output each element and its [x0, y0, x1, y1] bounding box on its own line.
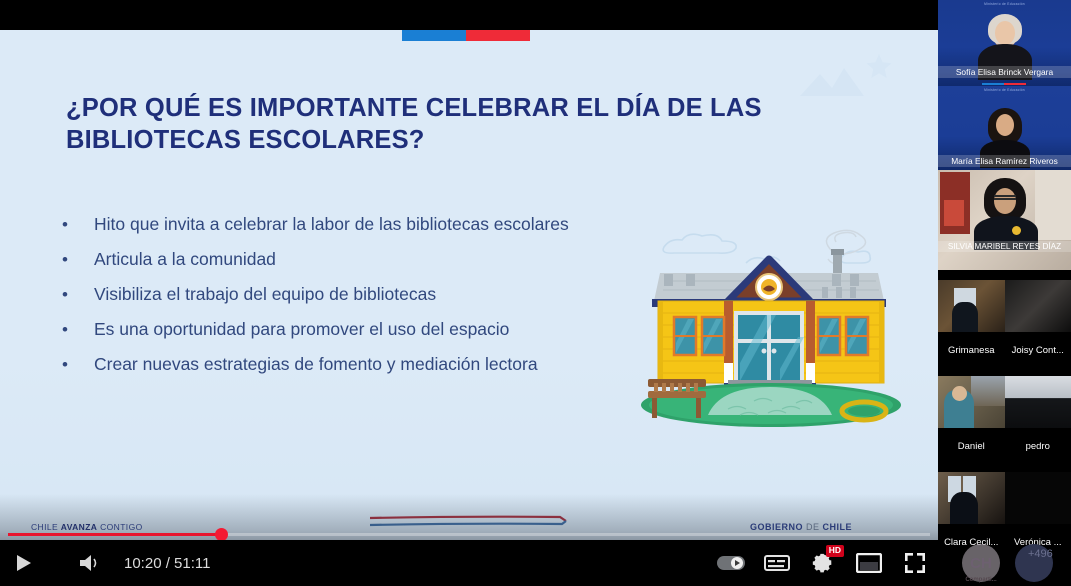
- miniplayer-icon: [856, 553, 882, 573]
- bullet-marker: •: [62, 278, 94, 311]
- participant-tile[interactable]: Grimanesa: [938, 280, 1005, 368]
- participant-tile-featured[interactable]: Ministerio de Educación Sofía Elisa Brin…: [938, 0, 1071, 86]
- player-controls-right: HD: [708, 540, 938, 586]
- star-decoration: [864, 52, 894, 82]
- participant-tile[interactable]: Daniel: [938, 376, 1005, 464]
- participant-tile-featured[interactable]: SILVIA MARIBEL REYES DÍAZ: [938, 170, 1071, 270]
- settings-button[interactable]: HD: [800, 540, 846, 586]
- autoplay-toggle-icon: [716, 554, 746, 572]
- participant-name: Daniel: [938, 428, 1005, 464]
- bullet-marker: •: [62, 243, 94, 276]
- progress-bar[interactable]: [0, 530, 938, 540]
- school-building-illustration: [636, 215, 906, 430]
- video-stage[interactable]: ¿POR QUÉ ES IMPORTANTE CELEBRAR EL DÍA D…: [0, 0, 938, 586]
- autoplay-toggle-button[interactable]: [708, 540, 754, 586]
- thumb-silhouette: [952, 302, 978, 332]
- participant-name: Sofía Elisa Brinck Vergara: [938, 66, 1071, 78]
- thumb-landscape: [971, 376, 1005, 406]
- participant-grid-row: Daniel pedro: [938, 376, 1071, 464]
- tile-org-banner: Ministerio de Educación: [938, 88, 1071, 92]
- participant-video: [938, 376, 1005, 428]
- participant-name: María Elisa Ramírez Riveros: [938, 155, 1071, 167]
- fullscreen-icon: [904, 552, 926, 574]
- bullet-text: Crear nuevas estrategias de fomento y me…: [94, 348, 622, 381]
- tile-org-banner: Ministerio de Educación: [938, 2, 1071, 6]
- hd-quality-badge: HD: [826, 545, 844, 557]
- slide-title: ¿POR QUÉ ES IMPORTANTE CELEBRAR EL DÍA D…: [66, 92, 766, 156]
- volume-icon: [78, 553, 100, 573]
- avatar-face: [995, 21, 1015, 45]
- participant-name: SILVIA MARIBEL REYES DÍAZ: [938, 241, 1071, 252]
- bullet-text: Visibiliza el trabajo del equipo de bibl…: [94, 278, 622, 311]
- player-control-bar[interactable]: 10:20 / 51:11: [0, 540, 938, 586]
- bullet-item: • Visibiliza el trabajo del equipo de bi…: [62, 278, 622, 311]
- subtitles-button[interactable]: [754, 540, 800, 586]
- room-furniture-accent: [944, 200, 964, 226]
- miniplayer-button[interactable]: [846, 540, 892, 586]
- participant-tile[interactable]: Joisy Cont...: [1005, 280, 1071, 368]
- bullet-text: Articula a la comunidad: [94, 243, 622, 276]
- time-display: 10:20 / 51:11: [124, 555, 210, 572]
- participant-count-label: +496: [1028, 548, 1053, 560]
- flag-red-segment: [466, 30, 530, 41]
- share-avatar-caption: Comparti...: [965, 577, 996, 583]
- share-avatar-initials: CH: [970, 555, 992, 572]
- bullet-item: • Crear nuevas estrategias de fomento y …: [62, 348, 622, 381]
- participant-video: [1005, 376, 1071, 428]
- play-icon: [13, 553, 33, 573]
- bullet-item: • Hito que invita a celebrar la labor de…: [62, 208, 622, 241]
- participant-name: Joisy Cont...: [1005, 332, 1071, 368]
- bullet-text: Hito que invita a celebrar la labor de l…: [94, 208, 622, 241]
- fullscreen-button[interactable]: [892, 540, 938, 586]
- participant-video: [1005, 472, 1071, 524]
- share-screen-avatar-overlay[interactable]: CH Comparti...: [962, 544, 1000, 582]
- footer-swoosh-decoration: [370, 514, 570, 528]
- slide-bullet-list: • Hito que invita a celebrar la labor de…: [62, 208, 622, 383]
- avatar-badge: [1012, 226, 1021, 235]
- avatar-glasses: [994, 195, 1016, 200]
- flag-blue-segment: [402, 30, 466, 41]
- progress-fill: [8, 533, 222, 536]
- volume-button[interactable]: [66, 540, 112, 586]
- chile-flag-bar: [402, 30, 530, 41]
- participant-name: pedro: [1005, 428, 1071, 464]
- avatar-face: [994, 188, 1016, 214]
- tile-flag-accent: [982, 83, 1026, 85]
- participant-tile-featured[interactable]: Ministerio de Educación María Elisa Ramí…: [938, 86, 1071, 170]
- participant-name: Grimanesa: [938, 332, 1005, 368]
- bullet-item: • Articula a la comunidad: [62, 243, 622, 276]
- participant-grid-row: Grimanesa Joisy Cont...: [938, 280, 1071, 368]
- participant-video: [938, 472, 1005, 524]
- participant-tile[interactable]: pedro: [1005, 376, 1071, 464]
- avatar-face: [996, 114, 1014, 136]
- bullet-marker: •: [62, 208, 94, 241]
- room-wall-right: [1035, 170, 1071, 240]
- participant-video: [938, 280, 1005, 332]
- bullet-marker: •: [62, 313, 94, 346]
- player-controls-left: 10:20 / 51:11: [0, 540, 210, 586]
- participant-grid-row: Clara Cecil... Verónica ...: [938, 472, 1071, 560]
- presentation-slide: ¿POR QUÉ ES IMPORTANTE CELEBRAR EL DÍA D…: [0, 30, 938, 550]
- subtitles-cc-icon: [764, 554, 790, 572]
- bullet-text: Es una oportunidad para promover el uso …: [94, 313, 622, 346]
- participant-rail[interactable]: Ministerio de Educación Sofía Elisa Brin…: [938, 0, 1071, 586]
- play-button[interactable]: [0, 540, 46, 586]
- bullet-marker: •: [62, 348, 94, 381]
- letterbox-top: [0, 0, 938, 30]
- bullet-item: • Es una oportunidad para promover el us…: [62, 313, 622, 346]
- thumb-head: [952, 386, 967, 401]
- participant-video: [1005, 280, 1071, 332]
- thumb-silhouette: [950, 492, 978, 524]
